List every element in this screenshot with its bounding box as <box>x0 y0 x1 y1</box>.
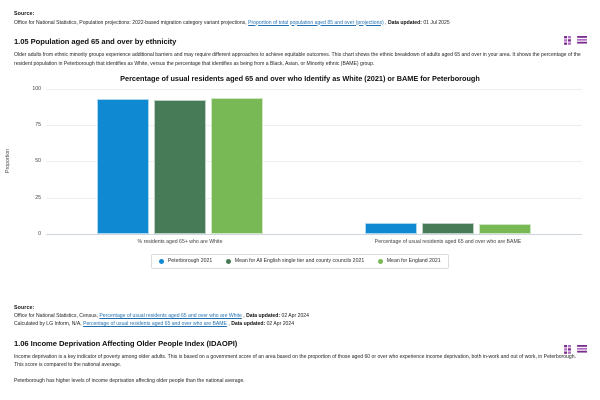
bar-groups: % residents aged 65+ who are WhitePercen… <box>46 89 582 234</box>
list-view-icon[interactable] <box>577 32 588 41</box>
section-105-paragraph: Older adults from ethnic minority groups… <box>14 51 586 68</box>
bar-group: % residents aged 65+ who are White <box>46 89 314 234</box>
data-updated-value: 01 Jul 2025 <box>423 20 449 26</box>
legend-color-swatch <box>226 259 231 264</box>
chart-bar[interactable] <box>211 98 263 233</box>
chart-bar[interactable] <box>154 100 206 234</box>
top-source-block: Source: Office for National Statistics, … <box>0 0 600 27</box>
section-106-paragraph-2: Peterborough has higher levels of income… <box>14 377 586 385</box>
bar-group: Percentage of usual residents aged 65 an… <box>314 89 582 234</box>
data-updated-label: Data updated: <box>388 20 422 26</box>
chart-legend: Peterborough 2021Mean for All English si… <box>151 254 448 269</box>
view-toggle-group-top[interactable] <box>564 32 589 41</box>
section-105-heading: 1.05 Population aged 65 and over by ethn… <box>14 37 586 46</box>
source-label: Source: <box>14 11 586 17</box>
y-axis-label: Proportion <box>5 149 11 173</box>
bottom-source-line-1: Office for National Statistics, Census, … <box>14 313 586 321</box>
section-105: 1.05 Population aged 65 and over by ethn… <box>0 37 600 68</box>
y-axis-tick: 75 <box>35 122 41 128</box>
bottom-source-1-updated-label: Data updated: <box>246 313 280 319</box>
y-axis-tick: 50 <box>35 158 41 164</box>
gridline: 0 <box>46 234 582 235</box>
bar-chart: Percentage of usual residents aged 65 an… <box>0 74 600 296</box>
chart-bar[interactable] <box>479 224 531 234</box>
chart-bar[interactable] <box>97 99 149 234</box>
legend-item[interactable]: Mean for All English single tier and cou… <box>226 258 364 264</box>
chart-bar[interactable] <box>365 223 417 233</box>
source-prefix: Office for National Statistics, Populati… <box>14 20 248 26</box>
bottom-source-2-updated-label: Data updated: <box>231 321 265 327</box>
bottom-source-2-updated-value: 02 Apr 2024 <box>267 321 294 327</box>
bottom-source-2-prefix: Calculated by LG Inform, N/A, <box>14 321 83 327</box>
chart-title: Percentage of usual residents aged 65 an… <box>0 74 600 83</box>
bottom-source-2-link[interactable]: Percentage of usual residents aged 65 an… <box>83 321 227 327</box>
bottom-source-1-updated-value: 02 Apr 2024 <box>281 313 308 319</box>
legend-label: Peterborough 2021 <box>168 258 212 264</box>
bottom-source-line-2: Calculated by LG Inform, N/A, Percentage… <box>14 321 586 329</box>
x-axis-category-label: Percentage of usual residents aged 65 an… <box>314 239 582 247</box>
section-106: 1.06 Income Deprivation Affecting Older … <box>0 339 600 385</box>
table-grid-icon[interactable] <box>564 341 575 350</box>
legend-color-swatch <box>378 259 383 264</box>
view-toggle-group-bottom[interactable] <box>564 341 589 350</box>
y-axis-tick: 100 <box>32 86 41 92</box>
section-106-paragraph-1: Income deprivation is a key indicator of… <box>14 353 586 370</box>
source-link[interactable]: Proportion of total population aged 85 a… <box>248 20 384 26</box>
bottom-source-1-prefix: Office for National Statistics, Census, <box>14 313 99 319</box>
table-grid-icon[interactable] <box>564 32 575 41</box>
bottom-source-label: Source: <box>14 305 586 311</box>
legend-item[interactable]: Peterborough 2021 <box>159 258 212 264</box>
legend-color-swatch <box>159 259 164 264</box>
y-axis-tick: 25 <box>35 195 41 201</box>
source-citation: Office for National Statistics, Populati… <box>14 20 586 28</box>
x-axis-category-label: % residents aged 65+ who are White <box>46 239 314 247</box>
y-axis-tick: 0 <box>38 231 41 237</box>
legend-label: Mean for England 2021 <box>387 258 441 264</box>
bottom-source-1-link[interactable]: Percentage of usual residents aged 65 an… <box>99 313 241 319</box>
legend-item[interactable]: Mean for England 2021 <box>378 258 440 264</box>
legend-label: Mean for All English single tier and cou… <box>235 258 364 264</box>
bottom-source-block: Source: Office for National Statistics, … <box>0 305 600 329</box>
chart-bar[interactable] <box>422 223 474 234</box>
list-view-icon[interactable] <box>577 341 588 350</box>
chart-plot-area: Proportion 1007550250 % residents aged 6… <box>46 89 582 234</box>
section-106-heading: 1.06 Income Deprivation Affecting Older … <box>14 339 586 348</box>
